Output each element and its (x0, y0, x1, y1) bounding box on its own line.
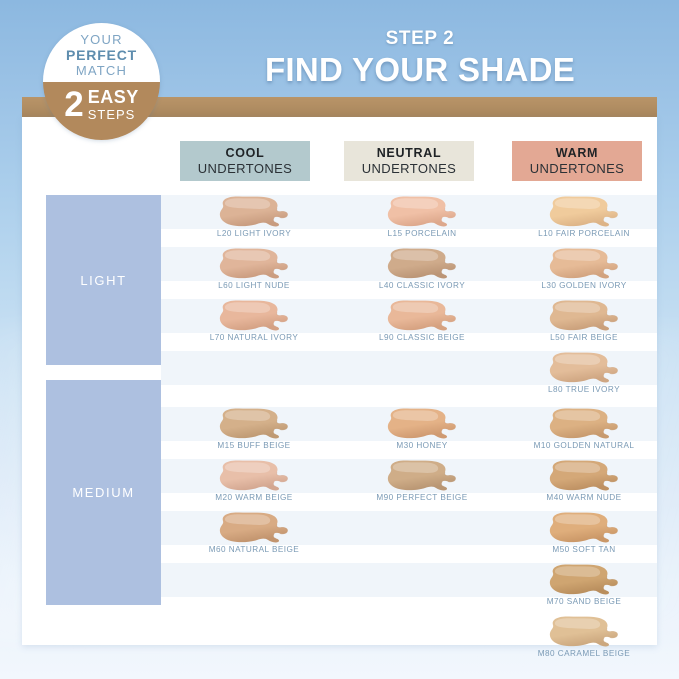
foundation-swatch-icon (215, 299, 293, 332)
shade-cell[interactable]: M60 NATURAL BEIGE (174, 511, 334, 563)
shade-cell[interactable]: L70 NATURAL IVORY (174, 299, 334, 351)
shade-cell[interactable]: L60 LIGHT NUDE (174, 247, 334, 299)
group-label-medium: MEDIUM (72, 485, 134, 500)
shade-cell[interactable]: M80 CARAMEL BEIGE (504, 615, 664, 667)
shade-cell[interactable]: M40 WARM NUDE (504, 459, 664, 511)
shade-name-label: L30 GOLDEN IVORY (541, 281, 626, 290)
shade-cell[interactable]: L15 PORCELAIN (342, 195, 502, 247)
foundation-swatch-icon (545, 407, 623, 440)
page-title: FIND YOUR SHADE (180, 51, 660, 89)
shade-finder-infographic: STEP 2 FIND YOUR SHADE COOL UNDERTONES N… (0, 0, 679, 679)
badge-steps-text: EASY STEPS (88, 88, 139, 122)
foundation-swatch-icon (545, 195, 623, 228)
shade-name-label: M80 CARAMEL BEIGE (538, 649, 630, 658)
group-label-light: LIGHT (80, 273, 126, 288)
foundation-swatch-icon (383, 407, 461, 440)
column-header-neutral-subtitle: UNDERTONES (362, 161, 457, 177)
badge-line-easy: EASY (88, 88, 139, 106)
shade-cell[interactable]: L50 FAIR BEIGE (504, 299, 664, 351)
column-header-cool-title: COOL (226, 146, 265, 161)
shade-cell[interactable]: M30 HONEY (342, 407, 502, 459)
shade-cell[interactable]: M70 SAND BEIGE (504, 563, 664, 615)
badge-line-perfect: PERFECT (66, 47, 137, 63)
shade-name-label: M10 GOLDEN NATURAL (534, 441, 635, 450)
column-header-neutral-title: NEUTRAL (377, 146, 442, 161)
shade-name-label: L90 CLASSIC BEIGE (379, 333, 465, 342)
shade-cell[interactable]: L90 CLASSIC BEIGE (342, 299, 502, 351)
foundation-swatch-icon (545, 351, 623, 384)
column-header-cool: COOL UNDERTONES (180, 141, 310, 181)
shade-cell[interactable]: M90 PERFECT BEIGE (342, 459, 502, 511)
badge-top-half: YOUR PERFECT MATCH (43, 23, 160, 82)
shade-name-label: L60 LIGHT NUDE (218, 281, 290, 290)
shade-name-label: M60 NATURAL BEIGE (209, 545, 299, 554)
shade-name-label: L40 CLASSIC IVORY (379, 281, 465, 290)
foundation-swatch-icon (215, 511, 293, 544)
foundation-swatch-icon (545, 615, 623, 648)
shade-name-label: M70 SAND BEIGE (547, 597, 622, 606)
header-text-block: STEP 2 FIND YOUR SHADE (180, 28, 660, 89)
shade-name-label: L15 PORCELAIN (387, 229, 456, 238)
shade-name-label: M20 WARM BEIGE (215, 493, 292, 502)
foundation-swatch-icon (215, 195, 293, 228)
foundation-swatch-icon (545, 563, 623, 596)
step-label: STEP 2 (180, 28, 660, 50)
column-header-neutral: NEUTRAL UNDERTONES (344, 141, 474, 181)
group-panel-medium: MEDIUM (46, 380, 161, 605)
column-header-warm: WARM UNDERTONES (512, 141, 642, 181)
foundation-swatch-icon (215, 407, 293, 440)
badge-step-count: 2 (64, 88, 83, 122)
shade-cell[interactable]: M15 BUFF BEIGE (174, 407, 334, 459)
shade-cell[interactable]: L80 TRUE IVORY (504, 351, 664, 403)
shade-name-label: M30 HONEY (396, 441, 447, 450)
group-panel-light: LIGHT (46, 195, 161, 365)
shade-cell[interactable]: L30 GOLDEN IVORY (504, 247, 664, 299)
shade-cell[interactable]: L40 CLASSIC IVORY (342, 247, 502, 299)
foundation-swatch-icon (545, 247, 623, 280)
foundation-swatch-icon (545, 299, 623, 332)
foundation-swatch-icon (545, 511, 623, 544)
shade-name-label: L80 TRUE IVORY (548, 385, 620, 394)
shade-chart-card: COOL UNDERTONES NEUTRAL UNDERTONES WARM … (22, 117, 657, 645)
foundation-swatch-icon (215, 247, 293, 280)
foundation-swatch-icon (383, 195, 461, 228)
shade-name-label: L10 FAIR PORCELAIN (538, 229, 630, 238)
shade-name-label: M90 PERFECT BEIGE (376, 493, 467, 502)
shade-name-label: M15 BUFF BEIGE (217, 441, 290, 450)
shade-cell[interactable]: L10 FAIR PORCELAIN (504, 195, 664, 247)
shade-grid: LIGHT MEDIUM L20 LIGHT IVORY (22, 195, 657, 645)
badge-line-steps: STEPS (88, 107, 139, 122)
foundation-swatch-icon (383, 247, 461, 280)
column-header-warm-subtitle: UNDERTONES (530, 161, 625, 177)
foundation-swatch-icon (383, 459, 461, 492)
foundation-swatch-icon (215, 459, 293, 492)
shade-name-label: L70 NATURAL IVORY (210, 333, 299, 342)
shade-cell[interactable]: M20 WARM BEIGE (174, 459, 334, 511)
perfect-match-badge: YOUR PERFECT MATCH 2 EASY STEPS (43, 23, 160, 140)
shade-name-label: M50 SOFT TAN (552, 545, 615, 554)
badge-line-match: MATCH (76, 63, 127, 79)
shade-name-label: M40 WARM NUDE (546, 493, 621, 502)
foundation-swatch-icon (545, 459, 623, 492)
undertone-header-row: COOL UNDERTONES NEUTRAL UNDERTONES WARM … (22, 141, 657, 183)
shade-cell[interactable]: L20 LIGHT IVORY (174, 195, 334, 247)
shade-cell[interactable]: M10 GOLDEN NATURAL (504, 407, 664, 459)
shade-name-label: L20 LIGHT IVORY (217, 229, 291, 238)
shade-cell[interactable]: M50 SOFT TAN (504, 511, 664, 563)
column-header-warm-title: WARM (556, 146, 598, 161)
column-header-cool-subtitle: UNDERTONES (198, 161, 293, 177)
shade-name-label: L50 FAIR BEIGE (550, 333, 618, 342)
foundation-swatch-icon (383, 299, 461, 332)
badge-line-your: YOUR (80, 32, 122, 47)
badge-bottom-half: 2 EASY STEPS (43, 82, 160, 141)
